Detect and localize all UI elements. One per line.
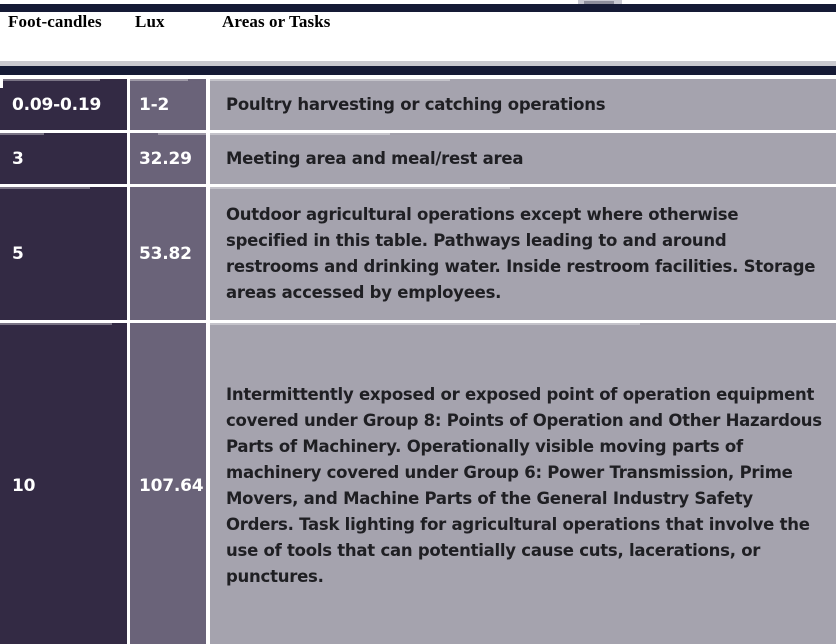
cell-lux: 32.29	[130, 133, 206, 184]
foot-candles-value: 10	[12, 476, 35, 496]
lux-value: 107.64	[139, 476, 203, 496]
task-description: Outdoor agricultural operations except w…	[226, 202, 822, 306]
foot-candles-value: 3	[12, 149, 24, 169]
column-header-areas-or-tasks: Areas or Tasks	[222, 12, 330, 32]
table-row: 3 32.29 Meeting area and meal/rest area	[0, 133, 836, 184]
lux-value: 1-2	[139, 95, 169, 115]
cell-foot-candles: 0.09-0.19	[0, 79, 127, 130]
cell-areas-or-tasks: Outdoor agricultural operations except w…	[210, 187, 836, 320]
cell-areas-or-tasks: Intermittently exposed or exposed point …	[210, 323, 836, 644]
header-underline-navy	[0, 66, 836, 75]
table-body: 0.09-0.19 1-2 Poultry harvesting or catc…	[0, 79, 836, 644]
table-header-row: Foot-candles Lux Areas or Tasks	[0, 12, 836, 56]
task-description: Intermittently exposed or exposed point …	[226, 382, 822, 590]
cell-areas-or-tasks: Meeting area and meal/rest area	[210, 133, 836, 184]
lux-value: 32.29	[139, 149, 192, 169]
cell-lux: 1-2	[130, 79, 206, 130]
cell-highlight-sliver	[0, 79, 100, 81]
cell-highlight-sliver	[210, 323, 640, 325]
cell-highlight-sliver	[0, 187, 90, 189]
lux-value: 53.82	[139, 244, 192, 264]
table-row: 10 107.64 Intermittently exposed or expo…	[0, 323, 836, 644]
cell-lux: 53.82	[130, 187, 206, 320]
task-description: Meeting area and meal/rest area	[226, 146, 822, 172]
cell-foot-candles: 10	[0, 323, 127, 644]
cell-highlight-sliver	[210, 133, 390, 135]
cell-foot-candles: 5	[0, 187, 127, 320]
task-description: Poultry harvesting or catching operation…	[226, 92, 822, 118]
cell-highlight-sliver	[0, 323, 112, 325]
cell-areas-or-tasks: Poultry harvesting or catching operation…	[210, 79, 836, 130]
cell-highlight-sliver	[158, 133, 206, 135]
cell-foot-candles: 3	[0, 133, 127, 184]
cell-highlight-sliver	[130, 79, 188, 81]
cell-highlight-sliver	[210, 79, 450, 81]
column-header-lux: Lux	[135, 12, 165, 32]
document-page: Foot-candles Lux Areas or Tasks 0.09-0.1…	[0, 0, 836, 644]
cell-highlight-sliver	[210, 187, 510, 189]
cell-lux: 107.64	[130, 323, 206, 644]
cell-highlight-sliver	[0, 133, 44, 135]
table-row: 0.09-0.19 1-2 Poultry harvesting or catc…	[0, 79, 836, 130]
top-rule-divider	[0, 4, 836, 12]
foot-candles-value: 0.09-0.19	[12, 95, 101, 115]
column-header-foot-candles: Foot-candles	[8, 12, 102, 32]
table-row: 5 53.82 Outdoor agricultural operations …	[0, 187, 836, 320]
foot-candles-value: 5	[12, 244, 24, 264]
